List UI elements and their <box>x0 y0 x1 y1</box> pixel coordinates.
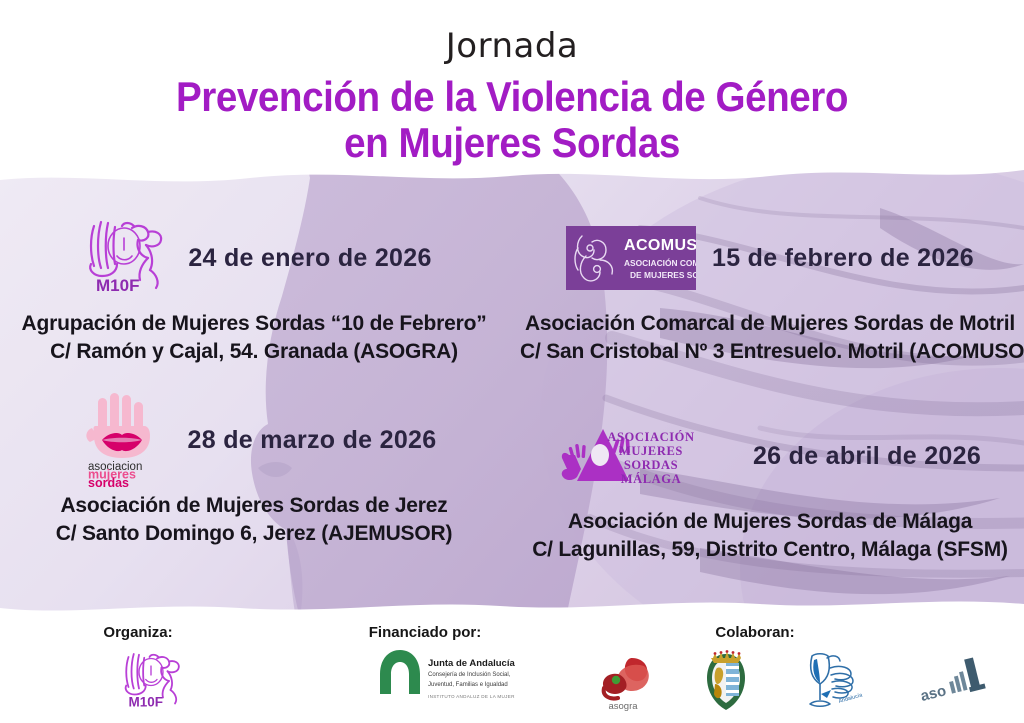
financiado-label: Financiado por: <box>330 624 520 641</box>
organiza-m10f-wordmark: M10F <box>129 695 164 710</box>
acomusor-logo: ACOMUSOR ASOCIACIÓN COMARCAL DE MUJERES … <box>566 226 696 290</box>
organiza-m10f-logo-art: M10F <box>115 648 187 714</box>
event-date: 15 de febrero de 2026 <box>712 244 974 273</box>
event-organization: Asociación de Mujeres Sordas de Málaga <box>520 508 1020 536</box>
junta-subtitle-2: Juventud, Familias e Igualdad <box>428 681 515 689</box>
coat-of-arms-logo <box>705 650 747 712</box>
kicker-text: Jornada <box>0 0 1024 66</box>
title-line-1: Prevención de la Violencia de Género <box>176 73 848 120</box>
event-details: Asociación Comarcal de Mujeres Sordas de… <box>520 310 1020 365</box>
junta-text-block: Junta de Andalucía Consejería de Inclusi… <box>428 648 515 699</box>
poster-root: Jornada Prevención de la Violencia de Gé… <box>0 0 1024 723</box>
event-organization: Agrupación de Mujeres Sordas “10 de Febr… <box>4 310 504 338</box>
event-address: C/ Lagunillas, 59, Distrito Centro, Mála… <box>520 536 1020 564</box>
event-header-row: ACOMUSOR ASOCIACIÓN COMARCAL DE MUJERES … <box>520 210 1020 306</box>
malaga-word-mujeres: MUJERES <box>619 444 683 458</box>
financiado-column: Financiado por: <box>330 624 520 641</box>
event-address: C/ San Cristobal Nº 3 Entresuelo. Motril… <box>520 338 1020 366</box>
event-organization: Asociación Comarcal de Mujeres Sordas de… <box>520 310 1020 338</box>
colaboran-column: Colaboran: <box>690 624 820 641</box>
coat-of-arms-art <box>705 650 747 712</box>
acomusor-sub2: DE MUJERES SORDAS <box>630 270 696 280</box>
m10f-logo-art: M10F <box>76 214 172 302</box>
sfsm-malaga-logo: ASOCIACIÓN MUJERES SORDAS MÁLAGA <box>559 425 737 487</box>
event-address: C/ Ramón y Cajal, 54. Granada (ASOGRA) <box>4 338 504 366</box>
events-grid: M10F 24 de enero de 2026 Agrupación de M… <box>0 196 1024 596</box>
colaboran-label: Colaboran: <box>690 624 820 641</box>
junta-arch-icon <box>378 648 422 696</box>
acomusor-wordmark: ACOMUSOR <box>624 237 696 254</box>
event-header-row: M10F 24 de enero de 2026 <box>4 210 504 306</box>
m10f-logo-wordmark: M10F <box>96 276 139 295</box>
asomfis-logo-art: aso <box>914 653 992 709</box>
event-details: Agrupación de Mujeres Sordas “10 de Febr… <box>4 310 504 365</box>
asogra-logo-art: asogra <box>592 650 654 712</box>
event-details: Asociación de Mujeres Sordas de Málaga C… <box>520 508 1020 563</box>
wine-glass-hand-logo: Andalucía <box>797 648 863 714</box>
event-date: 28 de marzo de 2026 <box>188 426 437 455</box>
m10f-logo: M10F <box>76 214 172 302</box>
asomfis-wordmark-part1: aso <box>919 682 948 705</box>
organiza-label: Organiza: <box>78 624 198 641</box>
event-address: C/ Santo Domingo 6, Jerez (AJEMUSOR) <box>4 520 504 548</box>
event-header-row: ASOCIACIÓN MUJERES SORDAS MÁLAGA 26 de a… <box>520 408 1020 504</box>
malaga-word-asociacion: ASOCIACIÓN <box>607 430 694 444</box>
event-date: 24 de enero de 2026 <box>188 244 431 273</box>
event-organization: Asociación de Mujeres Sordas de Jerez <box>4 492 504 520</box>
acomusor-logo-art: ACOMUSOR ASOCIACIÓN COMARCAL DE MUJERES … <box>566 226 696 290</box>
junta-subtitle-1: Consejería de Inclusión Social, <box>428 671 515 679</box>
acomusor-sub1: ASOCIACIÓN COMARCAL <box>624 257 696 268</box>
event-card-malaga: ASOCIACIÓN MUJERES SORDAS MÁLAGA 26 de a… <box>520 408 1020 563</box>
junta-de-andalucia-logo: Junta de Andalucía Consejería de Inclusi… <box>378 648 515 699</box>
jerez-word-sordas: sordas <box>88 476 129 488</box>
asomfis-logo: aso <box>914 653 992 709</box>
organiza-m10f-logo: M10F <box>115 648 187 719</box>
ajemusor-jerez-logo: asociacion mujeres sordas <box>72 392 172 488</box>
event-details: Asociación de Mujeres Sordas de Jerez C/… <box>4 492 504 547</box>
wine-glass-hand-wordmark: Andalucía <box>838 692 863 705</box>
malaga-word-malaga: MÁLAGA <box>621 472 682 486</box>
page-title: Prevención de la Violencia de Género en … <box>41 66 983 166</box>
malaga-word-sordas: SORDAS <box>624 458 678 472</box>
event-card-motril: ACOMUSOR ASOCIACIÓN COMARCAL DE MUJERES … <box>520 210 1020 365</box>
asogra-logo: asogra <box>592 650 654 712</box>
title-line-2: en Mujeres Sordas <box>41 120 983 166</box>
sfsm-logo-art: ASOCIACIÓN MUJERES SORDAS MÁLAGA <box>559 425 737 487</box>
asogra-wordmark: asogra <box>608 701 638 712</box>
junta-institute: INSTITUTO ANDALUZ DE LA MUJER <box>428 694 515 699</box>
ajemusor-logo-art: asociacion mujeres sordas <box>72 392 172 488</box>
wine-glass-hand-art: Andalucía <box>797 648 863 714</box>
event-date: 26 de abril de 2026 <box>753 442 981 471</box>
poster-header: Jornada Prevención de la Violencia de Gé… <box>0 0 1024 166</box>
event-header-row: asociacion mujeres sordas 28 de marzo de… <box>4 392 504 488</box>
event-card-jerez: asociacion mujeres sordas 28 de marzo de… <box>4 392 504 547</box>
collaborators-row: asogra <box>592 648 992 714</box>
event-card-granada: M10F 24 de enero de 2026 Agrupación de M… <box>4 210 504 365</box>
junta-name: Junta de Andalucía <box>428 658 515 669</box>
organiza-column: Organiza: <box>78 624 198 641</box>
